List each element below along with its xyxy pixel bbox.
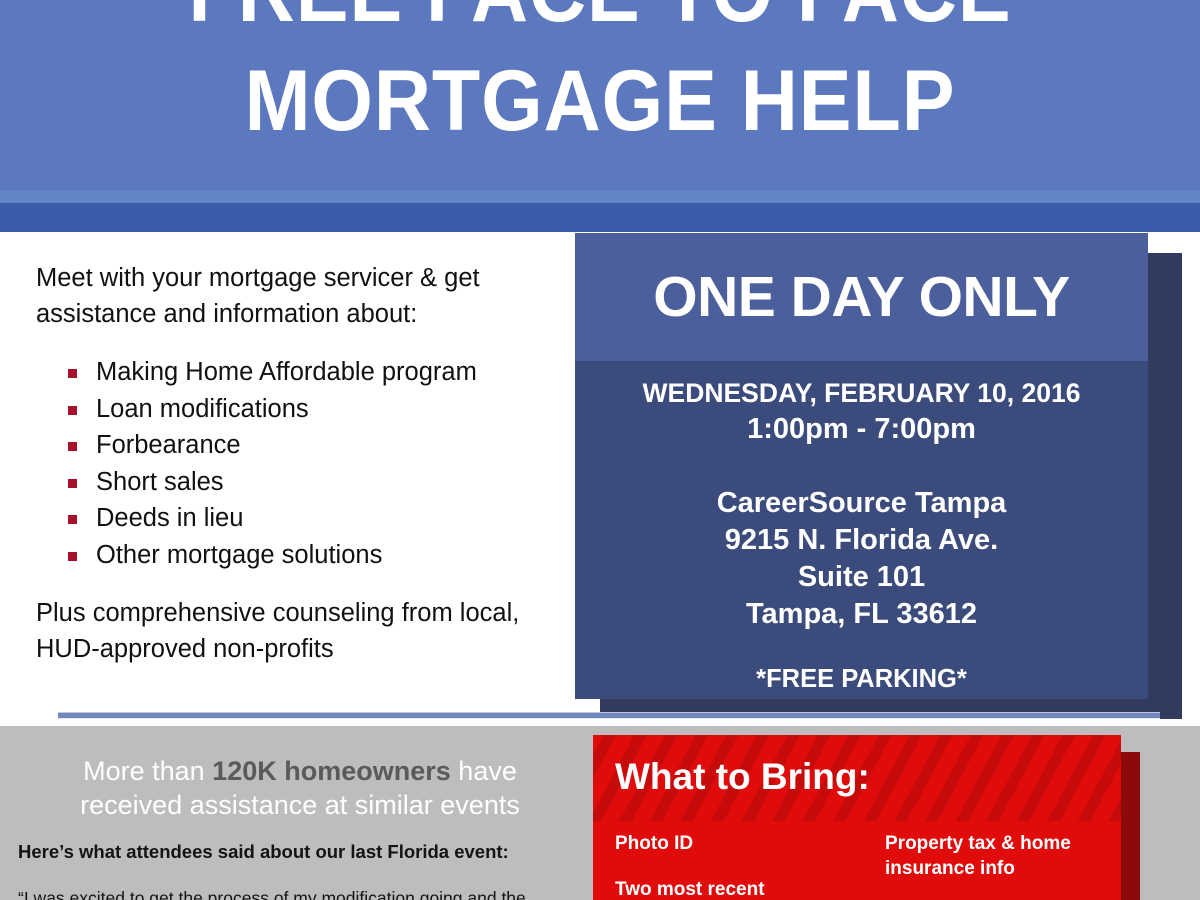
list-item: Property tax & home insurance info [885,831,1120,881]
services-closing-text: Plus comprehensive counseling from local… [36,595,576,667]
event-date: WEDNESDAY, FEBRUARY 10, 2016 [575,376,1148,410]
venue-name: CareerSource Tampa [575,485,1148,522]
square-bullet-icon [68,369,77,378]
services-intro-text: Meet with your mortgage servicer & get a… [36,260,536,332]
services-bullet-list: Making Home Affordable program Loan modi… [58,354,558,573]
list-item: Loan modifications [58,391,558,428]
event-venue-address: CareerSource Tampa 9215 N. Florida Ave. … [575,485,1148,633]
list-item: Deeds in lieu [58,500,558,537]
statistic-headline: More than 120K homeowners have received … [30,754,570,822]
what-to-bring-title: What to Bring: [615,754,870,800]
bring-items-left-column: Photo ID Two most recent [615,831,845,900]
list-item-label: Loan modifications [96,395,309,423]
square-bullet-icon [68,406,77,415]
event-time: 1:00pm - 7:00pm [575,411,1148,447]
venue-city-state-zip: Tampa, FL 33612 [575,596,1148,633]
header-title-line-1: FREE FACE TO FACE [48,0,1152,42]
venue-suite: Suite 101 [575,559,1148,596]
square-bullet-icon [68,442,77,451]
stat-highlight: 120K homeowners [212,756,451,786]
list-item: Making Home Affordable program [58,354,558,391]
square-bullet-icon [68,552,77,561]
list-item-label: Other mortgage solutions [96,541,382,569]
list-item: Other mortgage solutions [58,537,558,574]
list-item: Forbearance [58,427,558,464]
testimonial-intro: Here’s what attendees said about our las… [18,840,578,864]
header-accent-light [0,190,1200,203]
header-accent-dark [0,203,1200,232]
flyer-page: FREE FACE TO FACE MORTGAGE HELP Meet wit… [0,0,1200,900]
services-panel: Meet with your mortgage servicer & get a… [0,232,575,726]
event-banner-label: ONE DAY ONLY [575,263,1148,331]
list-item-label: Short sales [96,468,224,496]
list-item-label: Forbearance [96,431,241,459]
stat-prefix: More than [83,756,212,786]
square-bullet-icon [68,479,77,488]
venue-street: 9215 N. Florida Ave. [575,522,1148,559]
testimonial-quote: “I was excited to get the process of my … [18,886,574,900]
section-divider [58,712,1160,719]
what-to-bring-box: What to Bring: Photo ID Two most recent … [593,735,1121,900]
list-item: Short sales [58,464,558,501]
event-details-box: ONE DAY ONLY WEDNESDAY, FEBRUARY 10, 201… [575,233,1148,699]
list-item-label: Deeds in lieu [96,504,243,532]
list-item-label: Making Home Affordable program [96,358,477,386]
header-title-line-2: MORTGAGE HELP [48,46,1152,156]
list-item: Photo ID [615,831,845,856]
list-item: Two most recent [615,877,845,900]
square-bullet-icon [68,515,77,524]
bring-items-right-column: Property tax & home insurance info Most … [885,831,1120,900]
free-parking-note: *FREE PARKING* [575,663,1148,695]
